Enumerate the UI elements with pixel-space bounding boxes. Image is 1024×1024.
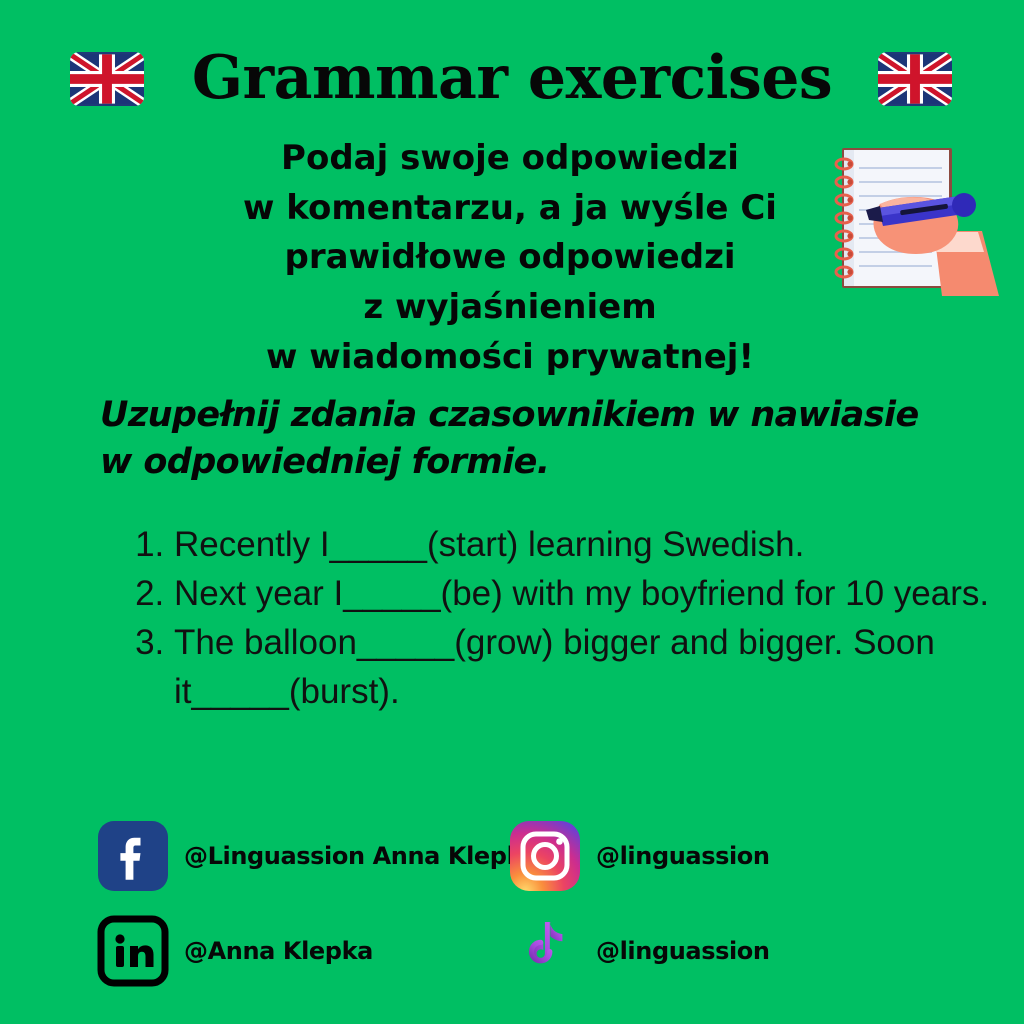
social-link-facebook[interactable]: @Linguassion Anna Klepka [96,819,508,893]
social-handle-instagram: @linguassion [596,842,770,870]
instruction-line: Uzupełnij zdania czasownikiem w nawiasie [100,392,940,439]
social-handle-tiktok: @linguassion [596,937,770,965]
social-row-top: @Linguassion Anna Klepka [96,808,856,903]
uk-flag-icon-left [70,52,144,106]
social-links-footer: @Linguassion Anna Klepka [96,808,856,998]
social-link-instagram[interactable]: @linguassion [508,819,770,893]
header: Grammar exercises [0,38,1024,118]
intro-line: w komentarzu, a ja wyśle Ci [180,184,840,234]
exercise-item: Recently I_____(start) learning Swedish. [174,520,1014,569]
social-link-tiktok[interactable]: @linguassion [508,914,770,988]
instagram-icon[interactable] [508,819,582,893]
linkedin-icon[interactable] [96,914,170,988]
social-handle-facebook: @Linguassion Anna Klepka [184,842,538,870]
social-link-linkedin[interactable]: @Anna Klepka [96,914,508,988]
instruction-text: Uzupełnij zdania czasownikiem w nawiasie… [100,392,940,485]
tiktok-icon[interactable] [508,914,582,988]
intro-line: z wyjaśnieniem [180,283,840,333]
intro-line: prawidłowe odpowiedzi [180,233,840,283]
social-handle-linkedin: @Anna Klepka [184,937,373,965]
intro-line: w wiadomości prywatnej! [180,333,840,383]
exercise-item: The balloon_____(grow) bigger and bigger… [174,618,1014,716]
exercise-list: Recently I_____(start) learning Swedish.… [126,520,1014,716]
uk-flag-icon-right [878,52,952,106]
social-row-bottom: @Anna Klepka @linguassion [96,903,856,998]
facebook-icon[interactable] [96,819,170,893]
exercise-item: Next year I_____(be) with my boyfriend f… [174,569,1014,618]
intro-paragraph: Podaj swoje odpowiedzi w komentarzu, a j… [180,134,840,382]
intro-line: Podaj swoje odpowiedzi [180,134,840,184]
page-title: Grammar exercises [192,48,832,108]
notebook-and-hand-with-pen-illustration [814,136,1014,296]
instruction-line: w odpowiedniej formie. [100,439,940,486]
